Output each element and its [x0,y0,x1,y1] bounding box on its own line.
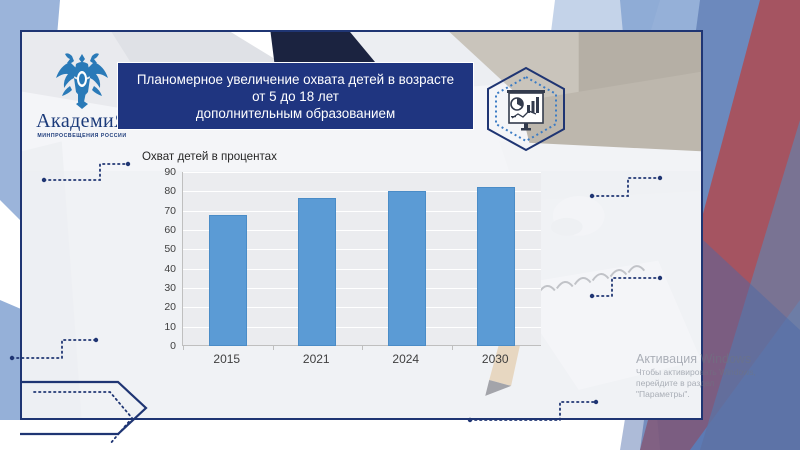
title-line-3: дополнительным образованием [196,105,395,122]
y-axis-labels: 9080706050403020100 [150,172,176,346]
watermark-line-3: "Параметры". [636,389,786,400]
title-line-1: Планомерное увеличение охвата детей в во… [137,71,454,88]
gridline [183,172,541,173]
x-tick [273,346,274,350]
y-tick-label: 30 [164,282,176,294]
slide-title-banner: Планомерное увеличение охвата детей в во… [117,62,474,130]
y-tick-label: 70 [164,205,176,217]
x-tick-label: 2030 [482,352,509,366]
logo-subtitle: МИНПРОСВЕЩЕНИЯ РОССИИ [28,133,136,139]
x-tick [362,346,363,350]
watermark-title: Активация Windows [636,352,786,367]
windows-activation-watermark: Активация Windows Чтобы активировать Win… [636,352,786,400]
bar-2015[interactable] [209,215,247,346]
y-tick-label: 20 [164,301,176,313]
chart-title: Охват детей в процентах [142,150,277,163]
slide-canvas: АкадемиЯ МИНПРОСВЕЩЕНИЯ РОССИИ Планомерн… [0,0,800,450]
bar-2024[interactable] [388,191,426,346]
plot-area [182,172,541,346]
double-headed-eagle-icon [50,48,114,110]
x-tick-label: 2024 [392,352,419,366]
y-tick-label: 50 [164,243,176,255]
y-tick-label: 60 [164,224,176,236]
presentation-chart-badge [484,66,568,152]
x-tick [183,346,184,350]
y-tick-label: 80 [164,185,176,197]
y-tick-label: 10 [164,321,176,333]
y-tick-label: 90 [164,166,176,178]
x-tick [452,346,453,350]
presentation-chart-icon [507,90,545,131]
y-tick-label: 0 [170,340,176,352]
watermark-line-2: Чтобы активировать Windows, перейдите в … [636,367,786,389]
bar-chart: 9080706050403020100 2015202120242030 [150,172,540,372]
title-line-2: от 5 до 18 лет [252,88,339,105]
hexagon-badge-icon [484,66,568,152]
bar-2021[interactable] [298,198,336,346]
y-tick-label: 40 [164,263,176,275]
x-tick-label: 2021 [303,352,330,366]
x-tick-label: 2015 [213,352,240,366]
bar-2030[interactable] [477,187,515,346]
